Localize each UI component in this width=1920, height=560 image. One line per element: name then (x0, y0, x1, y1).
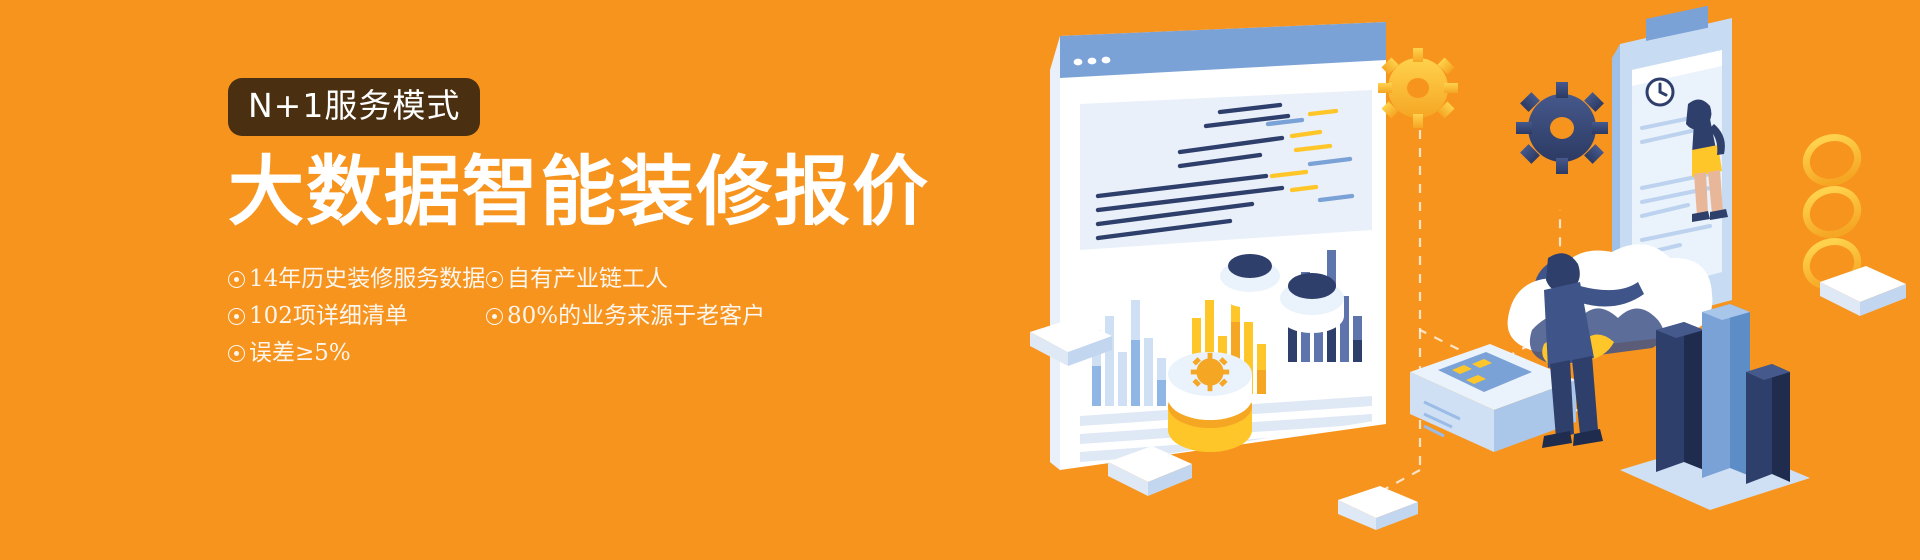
list-item: 80%的业务来源于老客户 (486, 305, 928, 328)
list-item-label: 80%的业务来源于老客户 (507, 305, 765, 328)
banner-copy-block: N+1服务模式 大数据智能装修报价 14年历史装修服务数据 102项详细清单 误… (228, 78, 928, 372)
tile-right (1820, 266, 1906, 316)
list-item: 102项详细清单 (228, 305, 486, 328)
page-title: 大数据智能装修报价 (228, 152, 928, 231)
service-model-badge: N+1服务模式 (228, 78, 480, 136)
list-item-label: 102项详细清单 (249, 305, 408, 328)
bullseye-dot-icon (486, 271, 503, 288)
bullseye-dot-icon (486, 308, 503, 325)
hero-illustration (1020, 0, 1920, 560)
tile-bottom-right (1338, 486, 1418, 530)
list-item: 误差≥5% (228, 342, 486, 365)
feature-bullet-list: 14年历史装修服务数据 102项详细清单 误差≥5% 自有产业链工人 80%的业… (228, 261, 928, 372)
bullseye-dot-icon (228, 271, 245, 288)
list-item-label: 误差≥5% (249, 342, 351, 365)
gear-navy (1516, 82, 1608, 174)
bar-blue-mid (1702, 304, 1750, 478)
list-item: 14年历史装修服务数据 (228, 268, 486, 291)
clock-icon (1647, 79, 1673, 105)
gear-orange (1378, 48, 1458, 128)
coin-stack-mid (1280, 273, 1344, 333)
list-item-label: 14年历史装修服务数据 (249, 268, 485, 291)
marketing-banner: N+1服务模式 大数据智能装修报价 14年历史装修服务数据 102项详细清单 误… (0, 0, 1920, 560)
coin-stack-left (1168, 352, 1252, 452)
list-item: 自有产业链工人 (486, 268, 928, 291)
ring-stack (1800, 131, 1863, 293)
bar-navy-short (1746, 364, 1790, 484)
gear-small-icon (1191, 353, 1229, 391)
bullseye-dot-icon (228, 308, 245, 325)
list-item-label: 自有产业链工人 (507, 268, 668, 291)
bar-navy-tall (1656, 322, 1704, 472)
bullseye-dot-icon (228, 345, 245, 362)
